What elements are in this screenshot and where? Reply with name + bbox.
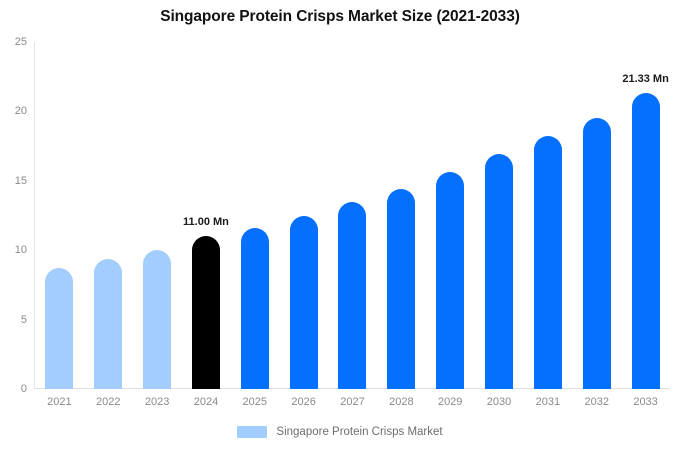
chart-legend: Singapore Protein Crisps Market [0, 426, 680, 438]
bar-slot [377, 42, 426, 389]
y-axis-tick-label: 5 [0, 314, 27, 326]
bar-2025[interactable] [241, 228, 269, 389]
x-axis-tick-label-2026: 2026 [291, 396, 315, 408]
plot-area: 11.00 Mn21.33 Mn [34, 42, 670, 389]
bars-layer: 11.00 Mn21.33 Mn [35, 42, 670, 389]
x-axis-tick-label-2030: 2030 [487, 396, 511, 408]
y-axis-tick-label: 10 [0, 244, 27, 256]
bar-2028[interactable] [387, 189, 415, 389]
x-axis-tick-label-2025: 2025 [243, 396, 267, 408]
bar-slot [35, 42, 84, 389]
legend-label: Singapore Protein Crisps Market [276, 426, 442, 438]
bar-2033[interactable] [632, 93, 660, 389]
bar-2031[interactable] [534, 136, 562, 389]
x-axis-tick-label-2033: 2033 [633, 396, 657, 408]
bar-slot [328, 42, 377, 389]
bar-2024[interactable] [192, 236, 220, 389]
legend-swatch-icon [237, 426, 267, 438]
bar-2027[interactable] [338, 202, 366, 389]
bar-value-label-2033: 21.33 Mn [622, 73, 668, 85]
x-axis-tick-label-2031: 2031 [536, 396, 560, 408]
bar-slot [84, 42, 133, 389]
y-axis-tick-label: 0 [0, 383, 27, 395]
x-axis-tick-label-2022: 2022 [96, 396, 120, 408]
bar-slot [572, 42, 621, 389]
bar-slot [426, 42, 475, 389]
legend-item[interactable]: Singapore Protein Crisps Market [237, 426, 442, 438]
bar-2023[interactable] [143, 250, 171, 389]
x-axis-tick-label-2021: 2021 [47, 396, 71, 408]
bar-2021[interactable] [45, 268, 73, 389]
bar-slot [475, 42, 524, 389]
x-axis-tick-label-2023: 2023 [145, 396, 169, 408]
bar-slot [523, 42, 572, 389]
x-axis-tick-label-2032: 2032 [584, 396, 608, 408]
x-axis-tick-label-2028: 2028 [389, 396, 413, 408]
y-axis-tick-label: 25 [0, 36, 27, 48]
bar-slot: 11.00 Mn [182, 42, 231, 389]
bar-slot [133, 42, 182, 389]
bar-value-label-2024: 11.00 Mn [183, 216, 229, 228]
x-axis-tick-label-2027: 2027 [340, 396, 364, 408]
x-axis-tick-label-2024: 2024 [194, 396, 218, 408]
bar-2029[interactable] [436, 172, 464, 389]
bar-2032[interactable] [583, 118, 611, 389]
bar-slot [230, 42, 279, 389]
bar-2022[interactable] [94, 259, 122, 389]
bar-2026[interactable] [290, 216, 318, 390]
bar-slot [279, 42, 328, 389]
y-axis-tick-label: 20 [0, 105, 27, 117]
bar-slot: 21.33 Mn [621, 42, 670, 389]
x-axis-tick-label-2029: 2029 [438, 396, 462, 408]
chart-title: Singapore Protein Crisps Market Size (20… [0, 8, 680, 26]
bar-2030[interactable] [485, 154, 513, 389]
chart-container: Singapore Protein Crisps Market Size (20… [0, 0, 680, 450]
y-axis-tick-label: 15 [0, 175, 27, 187]
